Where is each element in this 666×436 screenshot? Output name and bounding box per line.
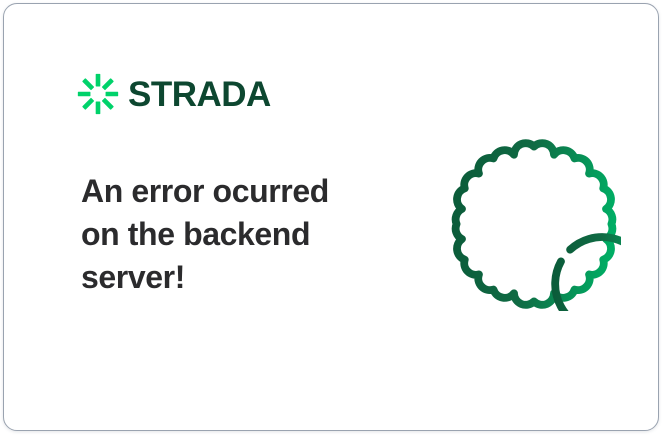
strada-mark-icon (77, 73, 119, 115)
error-message-text: An error ocurred on the backend server! (81, 170, 381, 299)
gear-cog-icon (447, 137, 621, 311)
strada-wordmark: STRADA (128, 77, 271, 112)
brand-lockup: STRADA (77, 70, 271, 118)
error-card: STRADA An error ocurred on the backend s… (3, 3, 659, 431)
